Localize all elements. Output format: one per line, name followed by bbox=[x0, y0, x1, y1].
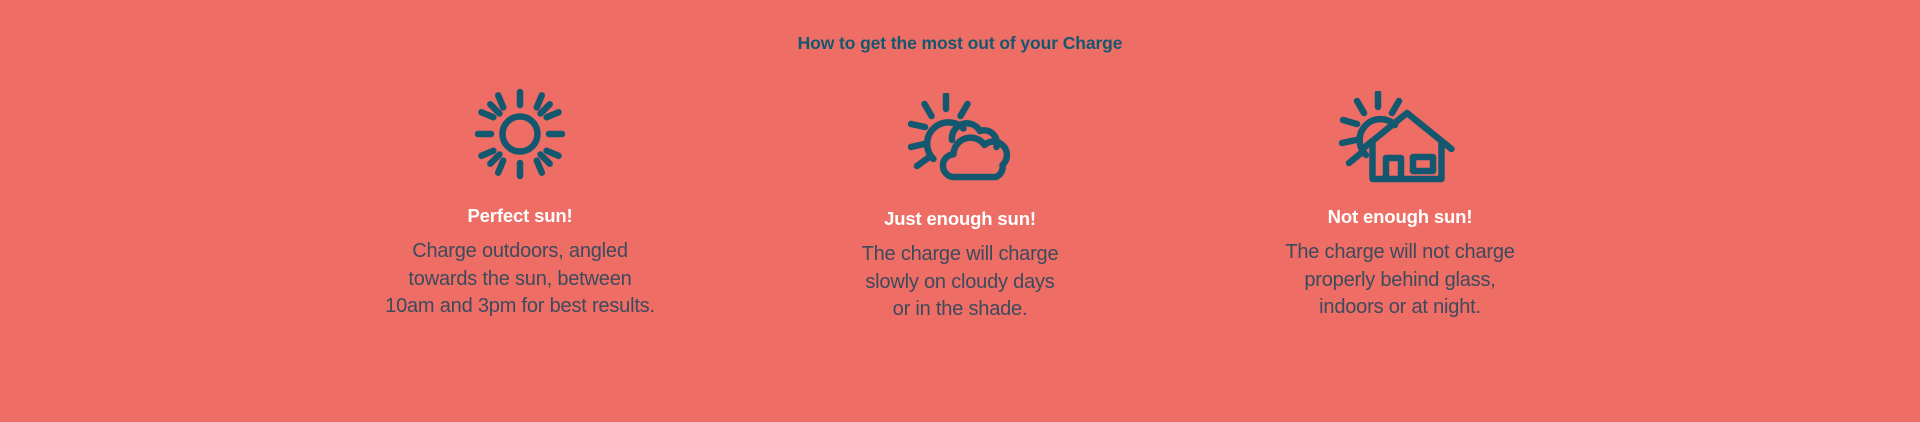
tip-body-line: 10am and 3pm for best results. bbox=[385, 293, 655, 321]
tip-column-perfect-sun: Perfect sun! Charge outdoors, angled tow… bbox=[300, 80, 740, 321]
tip-heading: Not enough sun! bbox=[1328, 206, 1473, 228]
tip-body: Charge outdoors, angled towards the sun,… bbox=[385, 238, 655, 321]
tip-column-not-enough-sun: Not enough sun! The charge will not char… bbox=[1180, 80, 1620, 322]
sun-behind-cloud-icon bbox=[908, 83, 1012, 191]
tip-body-line: indoors or at night. bbox=[1285, 294, 1514, 322]
tip-heading: Perfect sun! bbox=[467, 205, 572, 227]
page-title: How to get the most out of your Charge bbox=[0, 33, 1920, 54]
tip-body-line: The charge will not charge bbox=[1285, 239, 1514, 267]
tip-body-line: Charge outdoors, angled bbox=[385, 238, 655, 266]
tip-body: The charge will not charge properly behi… bbox=[1285, 239, 1514, 322]
tip-body-line: slowly on cloudy days bbox=[862, 269, 1059, 297]
sun-icon bbox=[475, 80, 565, 188]
house-with-sun-icon bbox=[1339, 84, 1461, 190]
tip-body: The charge will charge slowly on cloudy … bbox=[862, 241, 1059, 324]
tip-body-line: The charge will charge bbox=[862, 241, 1059, 269]
charge-tips-banner: How to get the most out of your Charge bbox=[0, 0, 1920, 422]
tips-columns: Perfect sun! Charge outdoors, angled tow… bbox=[300, 80, 1620, 324]
tip-heading: Just enough sun! bbox=[884, 208, 1036, 230]
tip-body-line: properly behind glass, bbox=[1285, 267, 1514, 295]
tip-body-line: towards the sun, between bbox=[385, 266, 655, 294]
tip-body-line: or in the shade. bbox=[862, 296, 1059, 324]
tip-column-just-enough-sun: Just enough sun! The charge will charge … bbox=[740, 80, 1180, 324]
